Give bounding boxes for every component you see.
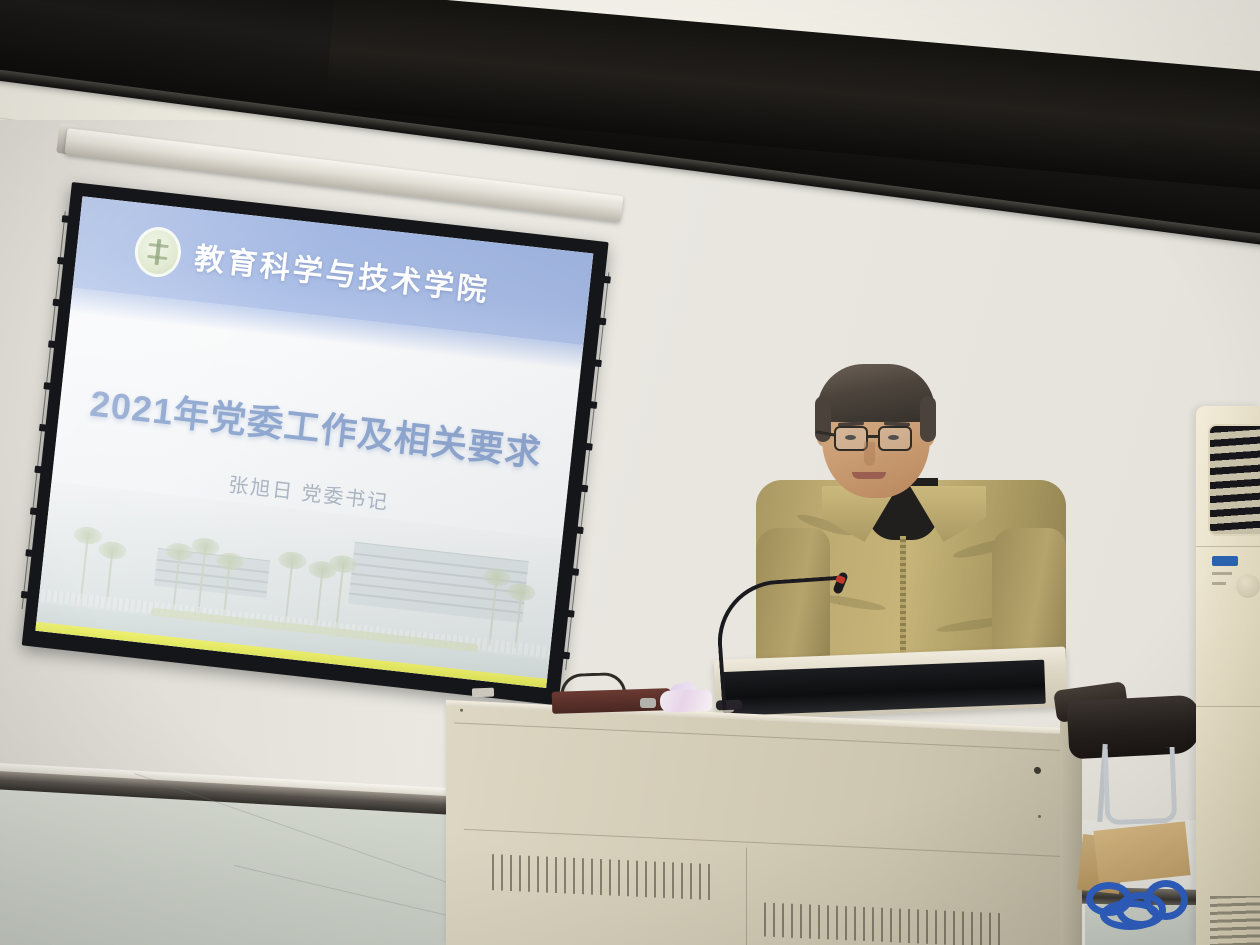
projection-screen: 教育科学与技术学院 2021年党委工作及相关要求 张旭日 党委书记 (22, 182, 609, 705)
air-conditioner-louvers (1208, 424, 1260, 536)
lecture-hall-photo: 教育科学与技术学院 2021年党委工作及相关要求 张旭日 党委书记 (0, 0, 1260, 945)
hair-side-right (920, 396, 936, 442)
small-object (472, 688, 494, 698)
glasses-bridge (868, 435, 880, 438)
air-conditioner-dial[interactable] (1236, 574, 1260, 598)
blue-cable (1086, 880, 1196, 934)
hair (817, 364, 935, 422)
cardboard-sheet (1093, 821, 1190, 884)
nose (864, 442, 875, 466)
glasses-lens-left (834, 426, 868, 451)
screen-surface: 教育科学与技术学院 2021年党委工作及相关要求 张旭日 党委书记 (35, 196, 593, 688)
air-conditioner (1196, 406, 1260, 945)
clip-object (640, 698, 656, 708)
face-mask (660, 689, 713, 713)
chair-frame (1103, 747, 1178, 825)
glasses-lens-right (878, 426, 912, 451)
mouth (852, 472, 886, 479)
lectern-body (446, 706, 1074, 945)
air-conditioner-badge (1212, 556, 1238, 566)
air-conditioner-label (1212, 572, 1232, 575)
air-conditioner-bottom-vent (1210, 896, 1260, 945)
presentation-slide: 教育科学与技术学院 2021年党委工作及相关要求 张旭日 党委书记 (35, 196, 593, 688)
